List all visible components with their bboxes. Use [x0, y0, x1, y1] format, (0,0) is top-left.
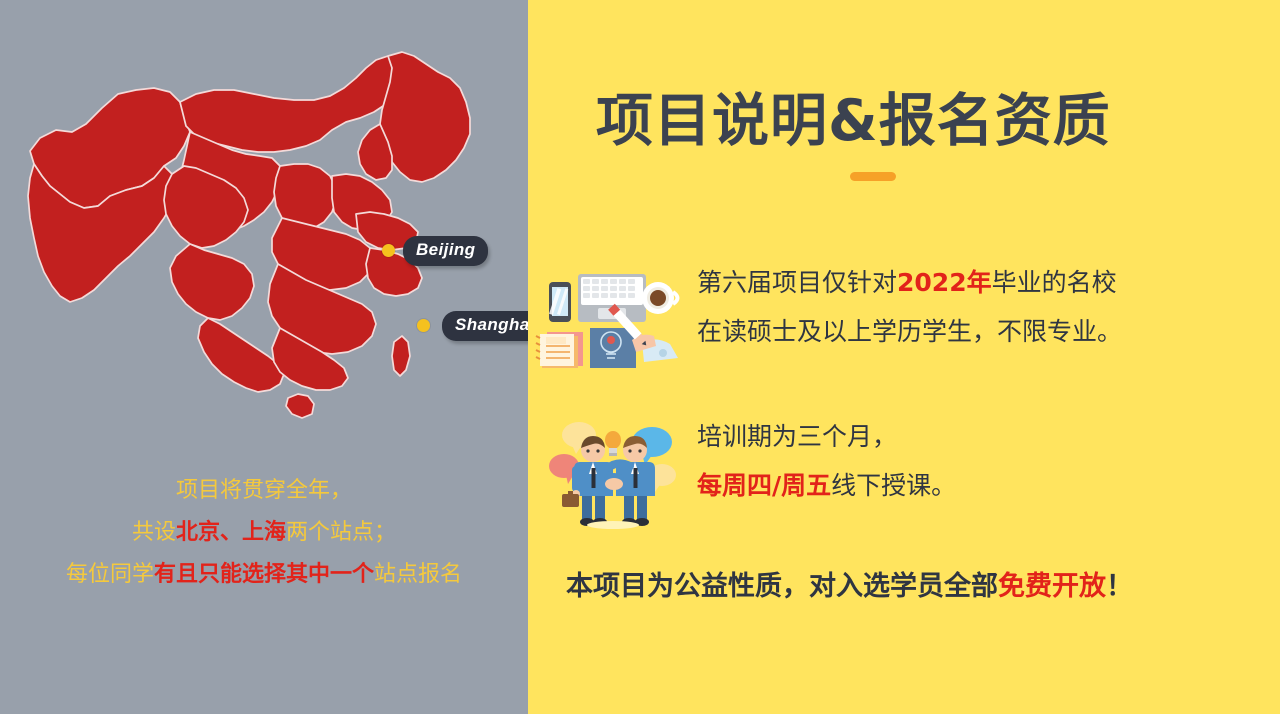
- title-underline-accent: [850, 172, 896, 181]
- bullet-1-line-1-b: 毕业的名校: [992, 268, 1117, 297]
- left-caption-line-1-text: 项目将贯穿全年，: [176, 478, 352, 503]
- bullet-1-line-2: 在读硕士及以上学历学生，不限专业。: [697, 307, 1257, 356]
- bullet-item-1: 第六届项目仅针对2022年毕业的名校 在读硕士及以上学历学生，不限专业。: [532, 258, 1252, 388]
- left-caption-line-2-a: 共设: [132, 520, 176, 545]
- left-caption-line-3-a: 每位同学: [66, 562, 154, 587]
- handshake-businessmen-illustration-icon: [542, 412, 684, 537]
- map-dot-shanghai: [417, 319, 430, 332]
- bullet-2-line-2-b: 线下授课。: [831, 471, 956, 500]
- map-dot-beijing: [382, 244, 395, 257]
- bullet-1-line-1-highlight: 2022年: [897, 268, 992, 297]
- bullet-item-2: 培训期为三个月， 每周四/周五线下授课。: [542, 412, 1262, 542]
- bottom-white-strip: [0, 714, 1280, 720]
- slide-root: Beijing Shanghai 项目将贯穿全年， 共设北京、上海两个站点； 每…: [0, 0, 1280, 720]
- page-title: 项目说明&报名资质: [596, 88, 1111, 154]
- footer-statement-a: 本项目为公益性质，对入选学员全部: [566, 571, 998, 602]
- left-caption: 项目将贯穿全年， 共设北京、上海两个站点； 每位同学有且只能选择其中一个站点报名: [0, 470, 528, 596]
- left-caption-line-2: 共设北京、上海两个站点；: [0, 512, 528, 554]
- footer-statement-b: ！: [1106, 571, 1133, 602]
- left-caption-line-3-c: 站点报名: [374, 562, 462, 587]
- bullet-2-line-2: 每周四/周五线下授课。: [697, 461, 1257, 510]
- left-caption-line-2-highlight: 北京、上海: [176, 520, 286, 545]
- left-panel: Beijing Shanghai 项目将贯穿全年， 共设北京、上海两个站点； 每…: [0, 0, 528, 714]
- bullet-2-line-1: 培训期为三个月，: [697, 412, 1257, 461]
- china-map: Beijing Shanghai: [14, 46, 522, 446]
- bullet-2-text: 培训期为三个月， 每周四/周五线下授课。: [697, 412, 1257, 510]
- left-caption-line-2-c: 两个站点；: [286, 520, 396, 545]
- desk-workspace-illustration-icon: [532, 258, 684, 383]
- bullet-2-line-2-highlight: 每周四/周五: [697, 471, 831, 500]
- footer-statement-highlight: 免费开放: [998, 571, 1106, 602]
- bullet-1-line-1: 第六届项目仅针对2022年毕业的名校: [697, 258, 1257, 307]
- map-label-beijing: Beijing: [403, 236, 488, 266]
- left-caption-line-3-highlight: 有且只能选择其中一个: [154, 562, 374, 587]
- left-caption-line-1: 项目将贯穿全年，: [0, 470, 528, 512]
- bullet-1-line-1-a: 第六届项目仅针对: [697, 268, 897, 297]
- left-caption-line-3: 每位同学有且只能选择其中一个站点报名: [0, 554, 528, 596]
- bullet-1-text: 第六届项目仅针对2022年毕业的名校 在读硕士及以上学历学生，不限专业。: [697, 258, 1257, 356]
- footer-statement: 本项目为公益性质，对入选学员全部免费开放！: [566, 567, 1133, 607]
